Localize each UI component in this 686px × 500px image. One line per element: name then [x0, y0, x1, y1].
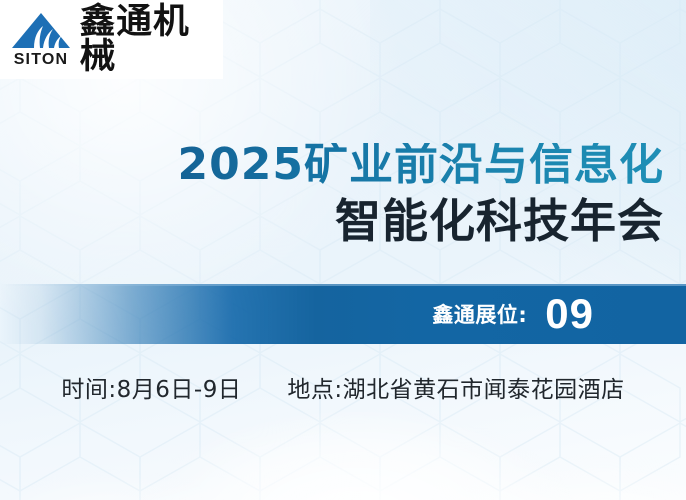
- logo-latin-text: SITON: [14, 52, 69, 68]
- booth-banner: 鑫通展位: 09: [0, 284, 686, 344]
- booth-label: 鑫通展位:: [432, 299, 527, 329]
- headline-line-2: 智能化科技年会: [0, 198, 664, 244]
- event-info-row: 时间:8月6日-9日 地点:湖北省黄石市闻泰花园酒店: [0, 370, 686, 404]
- headline-line-1: 2025矿业前沿与信息化: [0, 143, 664, 187]
- event-poster: SITON 鑫通机械 2025矿业前沿与信息化 智能化科技年会 鑫通展位: 09…: [0, 0, 686, 500]
- event-venue: 地点:湖北省黄石市闻泰花园酒店: [287, 370, 624, 404]
- booth-number: 09: [545, 293, 594, 335]
- company-logo: SITON 鑫通机械: [0, 0, 223, 79]
- logo-chinese-text: 鑫通机械: [80, 5, 225, 75]
- event-date: 时间:8月6日-9日: [61, 370, 241, 404]
- mountain-peak-icon: [10, 11, 72, 51]
- event-headline: 2025矿业前沿与信息化 智能化科技年会: [0, 143, 664, 244]
- logo-mark: SITON: [7, 9, 75, 71]
